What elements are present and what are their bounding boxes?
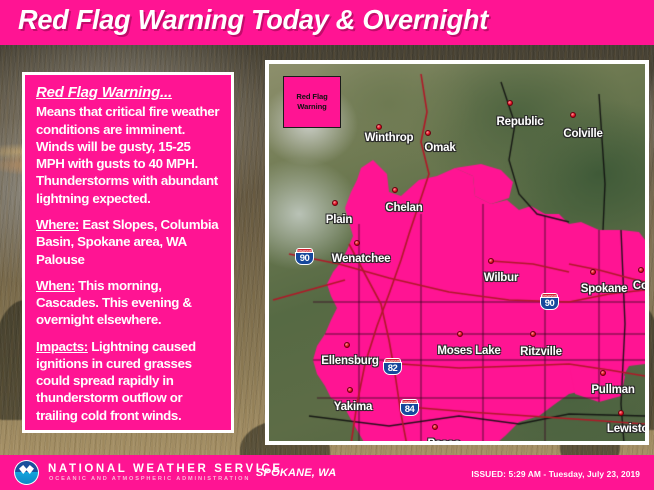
city-marker-dot <box>425 130 431 136</box>
agency-subtitle: OCEANIC AND ATMOSPHERIC ADMINISTRATION <box>49 476 250 482</box>
city-marker-dot <box>488 258 494 264</box>
city-marker-dot <box>432 424 438 430</box>
city-marker-dot <box>530 331 536 337</box>
where-block: Where: East Slopes, Columbia Basin, Spok… <box>36 216 221 268</box>
city-marker-dot <box>332 200 338 206</box>
issued-timestamp: ISSUED: 5:29 AM - Tuesday, July 23, 2019 <box>471 469 640 479</box>
warning-definition-text: Means that critical fire weather conditi… <box>36 103 221 207</box>
interstate-shield-icon: INTERSTATE84 <box>400 399 419 416</box>
city-marker-dot <box>507 100 513 106</box>
city-marker-dot <box>354 240 360 246</box>
when-label: When: <box>36 278 75 293</box>
legend-line-2: Warning <box>297 102 326 111</box>
interstate-shield-icon: INTERSTATE90 <box>540 293 559 310</box>
shield-number: 90 <box>540 297 559 310</box>
shield-number: 90 <box>295 252 314 265</box>
impacts-block: Impacts: Lightning caused ignitions in c… <box>36 338 221 424</box>
shield-number: 82 <box>383 362 402 375</box>
interstate-shield-icon: INTERSTATE90 <box>295 248 314 265</box>
interstate-shield-icon: INTERSTATE82 <box>383 358 402 375</box>
warning-area-map[interactable]: Red FlagWarning WinthropOmakRepublicColv… <box>269 64 645 441</box>
map-legend-red-flag-warning: Red FlagWarning <box>283 76 341 128</box>
panel-title: Red Flag Warning... <box>36 84 221 101</box>
agency-name: NATIONAL WEATHER SERVICE <box>48 463 283 475</box>
footer-bar: NATIONAL WEATHER SERVICE OCEANIC AND ATM… <box>0 455 654 490</box>
warning-graphic: Red Flag Warning Today & Overnight Red F… <box>0 0 654 490</box>
where-label: Where: <box>36 217 79 232</box>
city-marker-dot <box>638 267 644 273</box>
impacts-label: Impacts: <box>36 339 88 354</box>
city-marker-dot <box>347 387 353 393</box>
city-marker-dot <box>570 112 576 118</box>
when-block: When: This morning, Cascades. This eveni… <box>36 277 221 329</box>
map-frame: Red FlagWarning WinthropOmakRepublicColv… <box>265 60 649 445</box>
city-marker-dot <box>376 124 382 130</box>
shield-number: 84 <box>400 403 419 416</box>
header-bar: Red Flag Warning Today & Overnight <box>0 0 654 45</box>
city-marker-dot <box>392 187 398 193</box>
city-marker-dot <box>618 410 624 416</box>
page-title: Red Flag Warning Today & Overnight <box>18 4 488 36</box>
legend-line-1: Red Flag <box>296 92 327 101</box>
noaa-seal-icon <box>14 460 39 485</box>
city-marker-dot <box>344 342 350 348</box>
city-marker-dot <box>600 370 606 376</box>
city-marker-dot <box>457 331 463 337</box>
office-name: SPOKANE, WA <box>256 467 336 479</box>
warning-info-panel: Red Flag Warning... Means that critical … <box>22 72 234 433</box>
city-marker-dot <box>590 269 596 275</box>
